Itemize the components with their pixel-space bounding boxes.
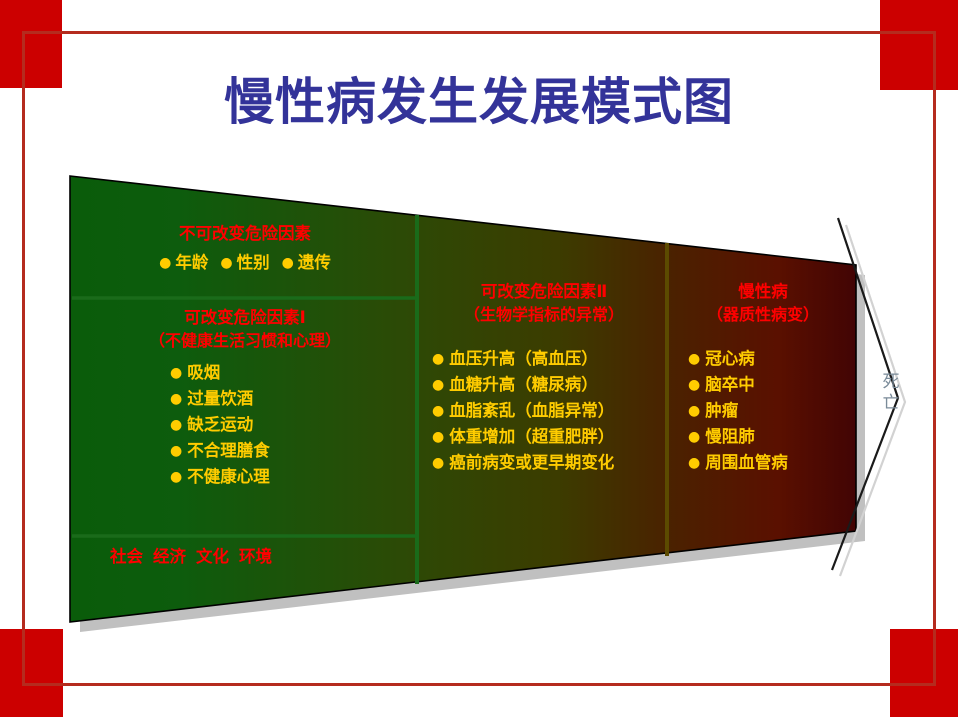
list-item: ●血压升高（高血压） bbox=[432, 346, 664, 372]
bullet-dot-icon: ● bbox=[432, 429, 444, 445]
section-modifiable-risk-factors-1: 可改变危险因素Ⅰ （不健康生活习惯和心理） ●吸烟 ●过量饮酒 ●缺乏运动 ●不… bbox=[78, 306, 412, 490]
bullet-dot-icon: ● bbox=[170, 391, 182, 407]
list-item: ●慢阻肺 bbox=[688, 424, 852, 450]
slide-canvas: 慢性病发生发展模式图 bbox=[0, 0, 958, 717]
outcome-death-label: 死 亡 bbox=[880, 372, 902, 414]
list-item: ●周围血管病 bbox=[688, 450, 852, 476]
section-header-modifiable-1: 可改变危险因素Ⅰ bbox=[78, 306, 412, 329]
bullet-dot-icon: ● bbox=[432, 377, 444, 393]
item-heredity: 遗传 bbox=[298, 253, 331, 272]
frame-corner-bottom-left bbox=[0, 629, 63, 717]
bullet-dot-icon: ● bbox=[220, 255, 232, 271]
non-modifiable-items-row: ●年龄●性别●遗传 bbox=[78, 249, 412, 273]
list-modifiable-1: ●吸烟 ●过量饮酒 ●缺乏运动 ●不合理膳食 ●不健康心理 bbox=[78, 360, 412, 490]
item-label: 血脂紊乱（血脂异常） bbox=[449, 401, 614, 420]
list-item: ●肿瘤 bbox=[688, 398, 852, 424]
list-item: ●癌前病变或更早期变化 bbox=[432, 450, 664, 476]
frame-border-top bbox=[22, 31, 936, 34]
bullet-dot-icon: ● bbox=[688, 377, 700, 393]
item-label: 血糖升高（糖尿病） bbox=[449, 375, 598, 394]
page-title: 慢性病发生发展模式图 bbox=[0, 62, 958, 134]
item-label: 不合理膳食 bbox=[187, 441, 270, 460]
social-determinants-row: 社会经济文化环境 bbox=[78, 543, 412, 567]
list-item: ●吸烟 bbox=[170, 360, 412, 386]
item-age: 年龄 bbox=[175, 253, 208, 272]
bullet-dot-icon: ● bbox=[170, 469, 182, 485]
item-label: 癌前病变或更早期变化 bbox=[449, 453, 614, 472]
section-social-determinants: 社会经济文化环境 bbox=[78, 543, 412, 567]
item-label: 冠心病 bbox=[705, 349, 755, 368]
list-item: ●冠心病 bbox=[688, 346, 852, 372]
bullet-dot-icon: ● bbox=[170, 417, 182, 433]
death-char-2: 亡 bbox=[880, 393, 902, 414]
item-label: 肿瘤 bbox=[705, 401, 738, 420]
item-label: 不健康心理 bbox=[187, 467, 270, 486]
list-item: ●脑卒中 bbox=[688, 372, 852, 398]
item-label: 过量饮酒 bbox=[187, 389, 253, 408]
item-culture: 文化 bbox=[196, 547, 229, 566]
item-label: 慢阻肺 bbox=[705, 427, 755, 446]
list-item: ●不合理膳食 bbox=[170, 438, 412, 464]
item-sex: 性别 bbox=[237, 253, 270, 272]
bullet-dot-icon: ● bbox=[432, 455, 444, 471]
section-subheader-modifiable-1: （不健康生活习惯和心理） bbox=[78, 329, 412, 352]
item-label: 吸烟 bbox=[187, 363, 220, 382]
item-label: 周围血管病 bbox=[705, 453, 788, 472]
list-item: ●血糖升高（糖尿病） bbox=[432, 372, 664, 398]
frame-border-bottom bbox=[22, 683, 936, 686]
item-label: 体重增加（超重肥胖） bbox=[449, 427, 614, 446]
death-char-1: 死 bbox=[880, 372, 902, 393]
section-header-modifiable-2: 可改变危险因素Ⅱ bbox=[424, 280, 664, 303]
item-label: 血压升高（高血压） bbox=[449, 349, 598, 368]
bullet-dot-icon: ● bbox=[170, 443, 182, 459]
list-item: ●不健康心理 bbox=[170, 464, 412, 490]
list-chronic-disease: ●冠心病 ●脑卒中 ●肿瘤 ●慢阻肺 ●周围血管病 bbox=[674, 346, 852, 476]
bullet-dot-icon: ● bbox=[688, 429, 700, 445]
item-environment: 环境 bbox=[239, 547, 272, 566]
section-header-non-modifiable: 不可改变危险因素 bbox=[78, 222, 412, 245]
bullet-dot-icon: ● bbox=[688, 455, 700, 471]
section-header-chronic-disease: 慢性病 bbox=[674, 280, 852, 303]
section-modifiable-risk-factors-2: 可改变危险因素Ⅱ （生物学指标的异常） ●血压升高（高血压） ●血糖升高（糖尿病… bbox=[424, 280, 664, 476]
item-society: 社会 bbox=[110, 547, 143, 566]
bullet-dot-icon: ● bbox=[282, 255, 294, 271]
section-subheader-modifiable-2: （生物学指标的异常） bbox=[424, 303, 664, 326]
item-label: 脑卒中 bbox=[705, 375, 755, 394]
bullet-dot-icon: ● bbox=[432, 403, 444, 419]
list-item: ●过量饮酒 bbox=[170, 386, 412, 412]
list-item: ●体重增加（超重肥胖） bbox=[432, 424, 664, 450]
section-non-modifiable-risk-factors: 不可改变危险因素 ●年龄●性别●遗传 bbox=[78, 222, 412, 273]
item-label: 缺乏运动 bbox=[187, 415, 253, 434]
bullet-dot-icon: ● bbox=[170, 365, 182, 381]
frame-corner-bottom-right bbox=[890, 629, 958, 717]
bullet-dot-icon: ● bbox=[432, 351, 444, 367]
list-modifiable-2: ●血压升高（高血压） ●血糖升高（糖尿病） ●血脂紊乱（血脂异常） ●体重增加（… bbox=[424, 346, 664, 476]
list-item: ●血脂紊乱（血脂异常） bbox=[432, 398, 664, 424]
section-subheader-chronic-disease: （器质性病变） bbox=[674, 303, 852, 326]
bullet-dot-icon: ● bbox=[159, 255, 171, 271]
list-item: ●缺乏运动 bbox=[170, 412, 412, 438]
bullet-dot-icon: ● bbox=[688, 351, 700, 367]
item-economy: 经济 bbox=[153, 547, 186, 566]
bullet-dot-icon: ● bbox=[688, 403, 700, 419]
section-chronic-disease: 慢性病 （器质性病变） ●冠心病 ●脑卒中 ●肿瘤 ●慢阻肺 ●周围血管病 bbox=[674, 280, 852, 476]
